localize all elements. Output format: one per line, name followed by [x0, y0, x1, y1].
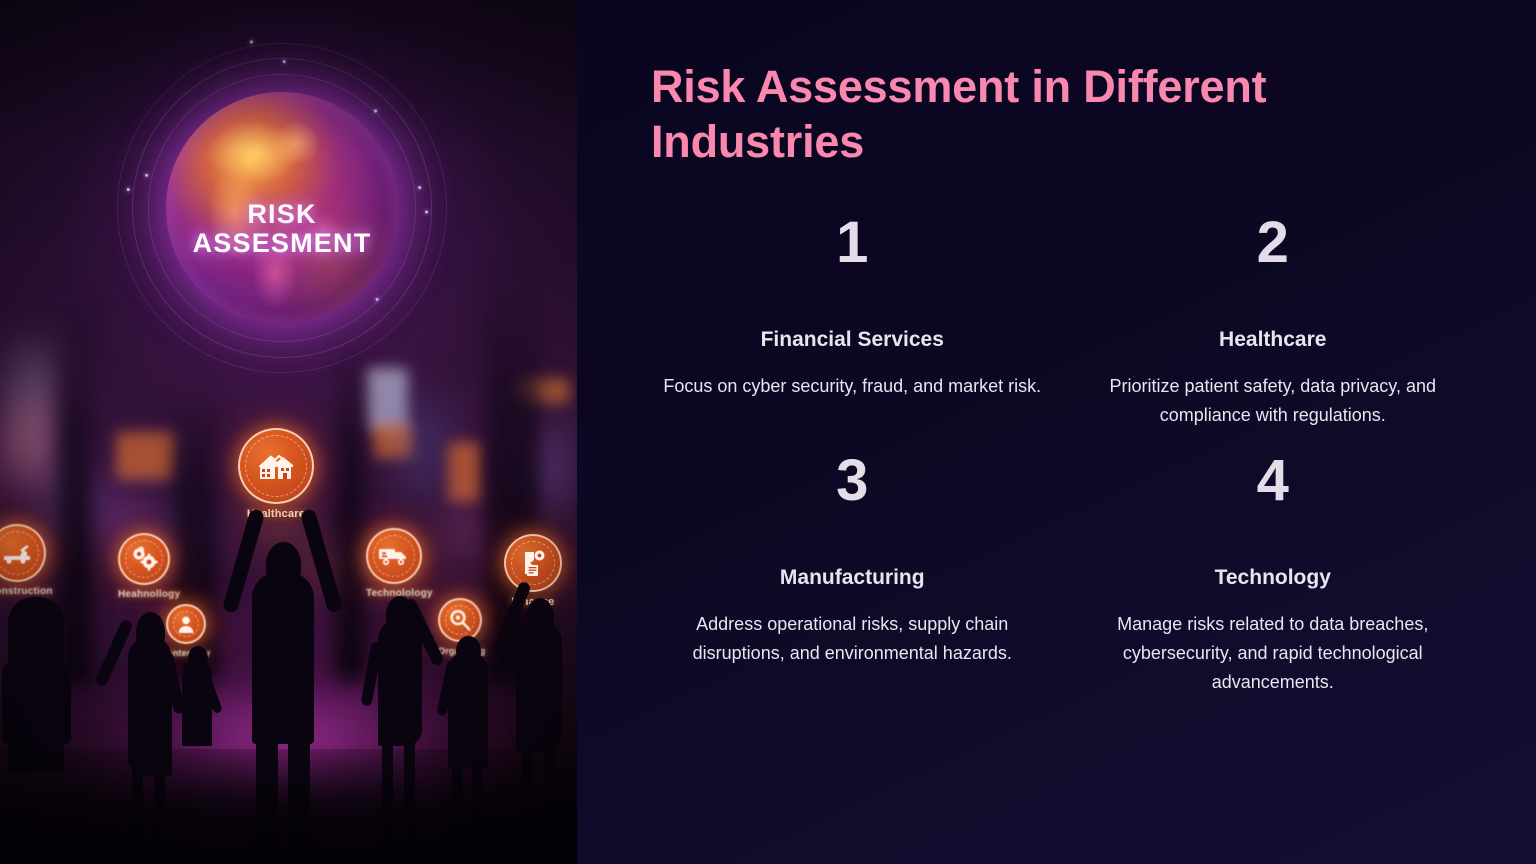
silhouette-person: [378, 618, 422, 746]
globe-label-line-2: ASSESMENT: [166, 229, 398, 258]
card-number: 3: [661, 452, 1044, 510]
card-number: 1: [661, 214, 1044, 272]
silhouette-head: [456, 636, 481, 666]
page-title: Risk Assessment in Different Industries: [651, 60, 1351, 170]
badge-label: Construction: [0, 586, 53, 597]
card-title: Manufacturing: [661, 566, 1044, 590]
hero-image-panel: RISK ASSESMENT Construction: [0, 0, 577, 864]
silhouette-main-figure: [252, 572, 314, 744]
card-title: Financial Services: [661, 328, 1044, 352]
industry-cards-grid: 1 Financial Services Focus on cyber secu…: [651, 214, 1474, 698]
tower: [336, 334, 366, 684]
card-number: 2: [1082, 214, 1465, 272]
bokeh-light: [6, 402, 50, 480]
document-gear-icon: [504, 534, 562, 592]
truck-icon: [366, 528, 422, 584]
card-description: Address operational risks, supply chain …: [661, 610, 1044, 668]
bokeh-light: [116, 432, 176, 480]
silhouette-person: [516, 620, 562, 752]
silhouette-head: [136, 612, 165, 652]
bokeh-light: [448, 442, 482, 502]
content-panel: Risk Assessment in Different Industries …: [577, 0, 1536, 864]
orbit-node: [373, 109, 377, 113]
silhouette-arm: [58, 664, 71, 744]
floor-shadow: [0, 749, 577, 864]
industry-card-2: 2 Healthcare Prioritize patient safety, …: [1072, 214, 1475, 430]
badge-technolology[interactable]: Technolology: [366, 528, 433, 599]
badge-label: Heahnollogy: [118, 589, 180, 600]
magnifier-icon: [438, 598, 482, 642]
silhouette-head: [20, 602, 50, 636]
slide-root: RISK ASSESMENT Construction: [0, 0, 1536, 864]
industry-card-3: 3 Manufacturing Address operational risk…: [651, 452, 1054, 697]
card-title: Technology: [1082, 566, 1465, 590]
bokeh-light: [410, 400, 436, 496]
industry-card-4: 4 Technology Manage risks related to dat…: [1072, 452, 1475, 697]
card-description: Manage risks related to data breaches, c…: [1082, 610, 1465, 697]
silhouette-head: [266, 542, 301, 586]
orbit-node: [126, 188, 130, 192]
orbit-node: [425, 210, 429, 214]
silhouette-arm: [2, 664, 15, 744]
card-number: 4: [1082, 452, 1465, 510]
badge-healthcare[interactable]: Healthcare: [238, 428, 314, 520]
bokeh-light: [372, 424, 412, 458]
card-description: Focus on cyber security, fraud, and mark…: [661, 372, 1044, 401]
globe-label-line-1: RISK: [166, 200, 398, 229]
card-description: Prioritize patient safety, data privacy,…: [1082, 372, 1465, 430]
bokeh-light: [446, 510, 486, 556]
globe-label: RISK ASSESMENT: [166, 200, 398, 258]
silhouette-head: [526, 598, 554, 636]
industry-card-1: 1 Financial Services Focus on cyber secu…: [651, 214, 1054, 430]
bokeh-light: [366, 368, 408, 432]
risk-assessment-globe: RISK ASSESMENT: [166, 92, 398, 324]
bulldozer-icon: [0, 524, 46, 582]
gears-icon: [118, 533, 170, 585]
person-icon: [166, 604, 206, 644]
badge-heahnollogy[interactable]: Heahnollogy: [118, 533, 180, 600]
card-title: Healthcare: [1082, 328, 1465, 352]
badge-construction[interactable]: Construction: [0, 524, 53, 597]
hospital-icon: [238, 428, 314, 504]
